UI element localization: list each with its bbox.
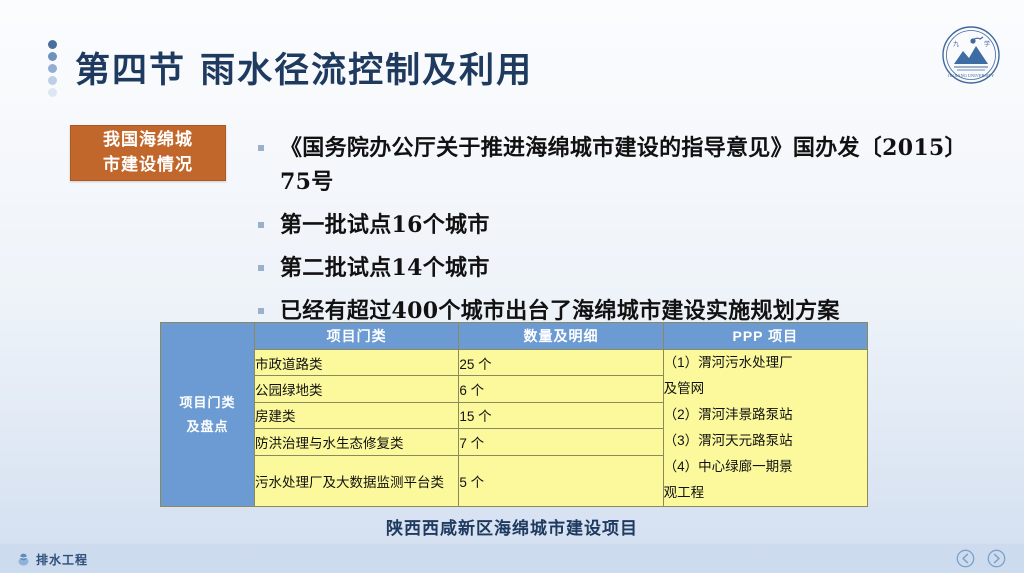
ppp-item: （1）渭河污水处理厂 (664, 350, 867, 376)
footer-brand: 排水工程 (16, 551, 88, 568)
university-logo: JIUJIANG UNIVERSITY 九 学 (940, 24, 1002, 86)
table-row-label: 项目门类 及盘点 (161, 323, 255, 507)
ppp-item: （4）中心绿廊一期景 (664, 454, 867, 480)
slide-header: 第四节 雨水径流控制及利用 (48, 38, 533, 97)
bullet-marker-icon (258, 308, 264, 314)
column-header-ppp: PPP 项目 (663, 323, 867, 350)
column-header-category: 项目门类 (255, 323, 459, 350)
slide-navigation[interactable] (956, 549, 1006, 568)
column-header-count: 数量及明细 (459, 323, 663, 350)
ppp-item: 观工程 (664, 480, 867, 506)
section-tag: 我国海绵城 市建设情况 (70, 125, 226, 181)
project-table-wrapper: 项目门类 及盘点 项目门类 数量及明细 PPP 项目 市政道路类 25 个 （1… (160, 322, 868, 507)
table-caption: 陕西西咸新区海绵城市建设项目 (0, 514, 1024, 539)
page-title: 第四节 雨水径流控制及利用 (75, 42, 533, 93)
chevron-right-icon[interactable] (987, 549, 1006, 568)
section-tag-line2: 市建设情况 (103, 153, 193, 178)
cell-count: 7 个 (459, 429, 663, 455)
cell-category: 污水处理厂及大数据监测平台类 (255, 455, 459, 507)
bullet-text: 《国务院办公厅关于推进海绵城市建设的指导意见》国办发〔2015〕75号 (280, 131, 958, 199)
seal-icon: JIUJIANG UNIVERSITY 九 学 (940, 24, 1002, 86)
bullet-marker-icon (258, 265, 264, 271)
list-item: 《国务院办公厅关于推进海绵城市建设的指导意见》国办发〔2015〕75号 (258, 131, 958, 199)
footer-label: 排水工程 (36, 551, 88, 568)
bullet-marker-icon (258, 145, 264, 151)
globe-icon (16, 552, 31, 567)
bullet-marker-icon (258, 222, 264, 228)
list-item: 第二批试点14个城市 (258, 251, 958, 285)
cell-category: 市政道路类 (255, 350, 459, 376)
footer-bar (0, 544, 1024, 573)
bullet-text: 第一批试点16个城市 (280, 208, 490, 242)
project-table: 项目门类 及盘点 项目门类 数量及明细 PPP 项目 市政道路类 25 个 （1… (160, 322, 868, 507)
svg-text:JIUJIANG UNIVERSITY: JIUJIANG UNIVERSITY (948, 73, 995, 78)
section-tag-line1: 我国海绵城 (103, 128, 193, 153)
ppp-item: （2）渭河沣景路泵站 (664, 402, 867, 428)
ppp-item: （3）渭河天元路泵站 (664, 428, 867, 454)
svg-text:九: 九 (953, 40, 959, 48)
cell-count: 15 个 (459, 402, 663, 428)
cell-ppp-projects: （1）渭河污水处理厂 及管网 （2）渭河沣景路泵站 （3）渭河天元路泵站 （4）… (663, 350, 867, 507)
cell-category: 房建类 (255, 402, 459, 428)
cell-category: 防洪治理与水生态修复类 (255, 429, 459, 455)
cell-category: 公园绿地类 (255, 376, 459, 402)
row-label-line1: 项目门类 (161, 391, 254, 415)
list-item: 第一批试点16个城市 (258, 208, 958, 242)
dot-decoration-icon (48, 40, 57, 97)
cell-count: 5 个 (459, 455, 663, 507)
ppp-item: 及管网 (664, 376, 867, 402)
table-row: 市政道路类 25 个 （1）渭河污水处理厂 及管网 （2）渭河沣景路泵站 （3）… (161, 350, 868, 376)
bullet-text: 第二批试点14个城市 (280, 251, 490, 285)
cell-count: 6 个 (459, 376, 663, 402)
table-header-row: 项目门类 及盘点 项目门类 数量及明细 PPP 项目 (161, 323, 868, 350)
cell-count: 25 个 (459, 350, 663, 376)
bullet-list: 《国务院办公厅关于推进海绵城市建设的指导意见》国办发〔2015〕75号 第一批试… (258, 131, 958, 337)
chevron-left-icon[interactable] (956, 549, 975, 568)
row-label-line2: 及盘点 (161, 415, 254, 439)
svg-text:学: 学 (984, 40, 990, 48)
